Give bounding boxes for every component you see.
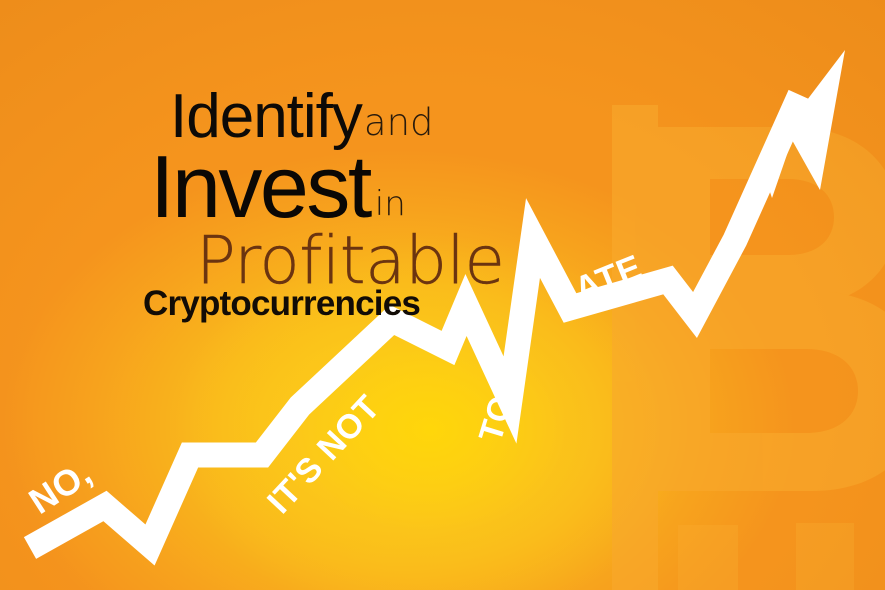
banner-canvas: Identifyand Investin Profitable Cryptocu… <box>0 0 885 590</box>
background-vignette <box>0 0 885 590</box>
